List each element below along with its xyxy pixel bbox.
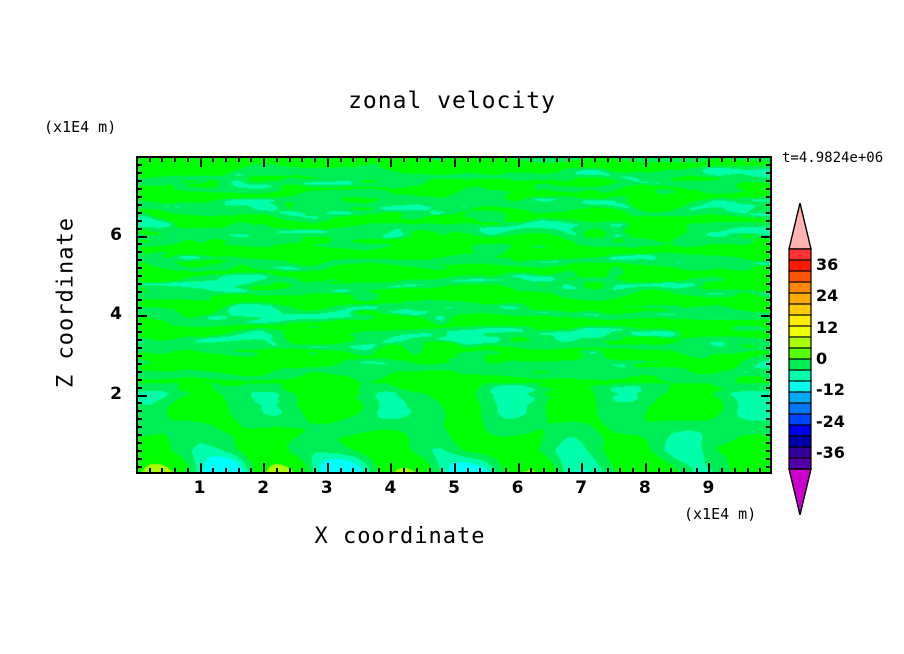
y-minor-tick xyxy=(137,434,142,436)
y-minor-tick-right xyxy=(766,426,771,428)
x-minor-tick-top xyxy=(301,157,303,162)
x-major-tick-top xyxy=(200,157,202,167)
y-minor-tick-right xyxy=(766,196,771,198)
y-minor-tick xyxy=(137,188,142,190)
time-annotation: t=4.9824e+06 xyxy=(782,150,883,166)
y-minor-tick-right xyxy=(766,339,771,341)
y-minor-tick xyxy=(137,307,142,309)
y-minor-tick xyxy=(137,291,142,293)
x-major-tick-top xyxy=(645,157,647,167)
x-major-tick xyxy=(454,463,456,473)
x-minor-tick-top xyxy=(441,157,443,162)
y-major-tick xyxy=(137,315,147,317)
x-minor-tick xyxy=(289,468,291,473)
x-minor-tick-top xyxy=(734,157,736,162)
x-minor-tick xyxy=(607,468,609,473)
y-minor-tick xyxy=(137,212,142,214)
y-major-tick xyxy=(137,236,147,238)
x-minor-tick-top xyxy=(314,157,316,162)
x-minor-tick xyxy=(225,468,227,473)
x-minor-tick-top xyxy=(250,157,252,162)
x-minor-tick xyxy=(568,468,570,473)
contour-plot-area[interactable] xyxy=(136,156,772,474)
x-minor-tick xyxy=(378,468,380,473)
x-minor-tick xyxy=(759,468,761,473)
x-tick-label: 7 xyxy=(566,478,596,498)
x-minor-tick-top xyxy=(492,157,494,162)
y-minor-tick xyxy=(137,426,142,428)
x-minor-tick xyxy=(747,468,749,473)
x-minor-tick-top xyxy=(658,157,660,162)
y-minor-tick-right xyxy=(766,323,771,325)
y-minor-tick xyxy=(137,466,142,468)
x-major-tick-top xyxy=(263,157,265,167)
x-minor-tick-top xyxy=(187,157,189,162)
y-minor-tick xyxy=(137,228,142,230)
colorbar-tick-label: -24 xyxy=(816,412,845,431)
y-minor-tick-right xyxy=(766,355,771,357)
x-major-tick xyxy=(708,463,710,473)
y-minor-tick-right xyxy=(766,418,771,420)
x-minor-tick xyxy=(161,468,163,473)
y-minor-tick-right xyxy=(766,283,771,285)
y-minor-tick-right xyxy=(766,164,771,166)
y-minor-tick xyxy=(137,442,142,444)
y-minor-tick xyxy=(137,339,142,341)
x-minor-tick xyxy=(352,468,354,473)
x-minor-tick xyxy=(429,468,431,473)
y-minor-tick-right xyxy=(766,442,771,444)
y-minor-tick xyxy=(137,347,142,349)
y-minor-tick xyxy=(137,180,142,182)
x-minor-tick-top xyxy=(696,157,698,162)
x-minor-tick xyxy=(149,468,151,473)
colorbar-tick-label: 36 xyxy=(816,255,838,274)
y-minor-tick-right xyxy=(766,458,771,460)
x-major-tick-top xyxy=(390,157,392,167)
x-axis-units: (x1E4 m) xyxy=(684,505,756,523)
y-minor-tick xyxy=(137,458,142,460)
x-tick-label: 8 xyxy=(630,478,660,498)
y-minor-tick-right xyxy=(766,251,771,253)
x-minor-tick-top xyxy=(632,157,634,162)
y-major-tick-right xyxy=(761,236,771,238)
y-minor-tick xyxy=(137,172,142,174)
y-minor-tick-right xyxy=(766,402,771,404)
x-tick-label: 4 xyxy=(375,478,405,498)
y-minor-tick xyxy=(137,387,142,389)
y-minor-tick-right xyxy=(766,331,771,333)
x-minor-tick-top xyxy=(149,157,151,162)
x-minor-tick xyxy=(276,468,278,473)
x-minor-tick xyxy=(250,468,252,473)
y-minor-tick xyxy=(137,275,142,277)
x-minor-tick-top xyxy=(174,157,176,162)
x-minor-tick xyxy=(556,468,558,473)
x-minor-tick-top xyxy=(721,157,723,162)
y-minor-tick xyxy=(137,410,142,412)
x-minor-tick-top xyxy=(479,157,481,162)
x-minor-tick xyxy=(212,468,214,473)
x-minor-tick xyxy=(314,468,316,473)
x-minor-tick xyxy=(479,468,481,473)
x-tick-label: 1 xyxy=(185,478,215,498)
x-minor-tick xyxy=(187,468,189,473)
x-minor-tick xyxy=(670,468,672,473)
x-minor-tick-top xyxy=(607,157,609,162)
colorbar-tick-label: 24 xyxy=(816,286,838,305)
x-minor-tick xyxy=(632,468,634,473)
colorbar-gradient xyxy=(783,203,817,515)
y-minor-tick-right xyxy=(766,228,771,230)
y-tick-label: 2 xyxy=(100,384,122,404)
y-major-tick-right xyxy=(761,315,771,317)
x-minor-tick-top xyxy=(556,157,558,162)
y-minor-tick xyxy=(137,251,142,253)
x-minor-tick-top xyxy=(429,157,431,162)
colorbar-tick-label: 12 xyxy=(816,318,838,337)
y-minor-tick xyxy=(137,363,142,365)
x-minor-tick xyxy=(505,468,507,473)
y-minor-tick-right xyxy=(766,188,771,190)
x-minor-tick-top xyxy=(212,157,214,162)
x-major-tick xyxy=(390,463,392,473)
x-minor-tick-top xyxy=(683,157,685,162)
page-title: zonal velocity xyxy=(0,88,904,114)
y-minor-tick xyxy=(137,283,142,285)
x-minor-tick xyxy=(721,468,723,473)
x-major-tick-top xyxy=(327,157,329,167)
x-minor-tick xyxy=(416,468,418,473)
y-minor-tick xyxy=(137,267,142,269)
y-minor-tick-right xyxy=(766,291,771,293)
y-minor-tick-right xyxy=(766,379,771,381)
y-minor-tick-right xyxy=(766,212,771,214)
y-minor-tick xyxy=(137,220,142,222)
x-minor-tick-top xyxy=(543,157,545,162)
y-minor-tick-right xyxy=(766,450,771,452)
x-minor-tick xyxy=(594,468,596,473)
x-major-tick xyxy=(327,463,329,473)
x-minor-tick-top xyxy=(352,157,354,162)
x-minor-tick xyxy=(683,468,685,473)
y-minor-tick xyxy=(137,323,142,325)
x-major-tick-top xyxy=(454,157,456,167)
x-minor-tick-top xyxy=(619,157,621,162)
y-minor-tick xyxy=(137,299,142,301)
x-minor-tick-top xyxy=(505,157,507,162)
y-minor-tick xyxy=(137,371,142,373)
y-minor-tick xyxy=(137,243,142,245)
x-major-tick-top xyxy=(581,157,583,167)
x-minor-tick xyxy=(530,468,532,473)
x-major-tick-top xyxy=(518,157,520,167)
y-minor-tick-right xyxy=(766,466,771,468)
x-tick-label: 2 xyxy=(248,478,278,498)
x-minor-tick-top xyxy=(403,157,405,162)
y-minor-tick-right xyxy=(766,363,771,365)
y-minor-tick-right xyxy=(766,180,771,182)
y-tick-label: 6 xyxy=(100,225,122,245)
x-minor-tick xyxy=(696,468,698,473)
x-major-tick xyxy=(581,463,583,473)
colorbar[interactable] xyxy=(783,203,817,515)
x-minor-tick xyxy=(301,468,303,473)
y-minor-tick-right xyxy=(766,371,771,373)
x-minor-tick xyxy=(543,468,545,473)
x-minor-tick-top xyxy=(225,157,227,162)
y-tick-label: 4 xyxy=(100,304,122,324)
y-minor-tick xyxy=(137,402,142,404)
y-minor-tick xyxy=(137,259,142,261)
x-minor-tick-top xyxy=(340,157,342,162)
x-minor-tick xyxy=(238,468,240,473)
x-minor-tick-top xyxy=(568,157,570,162)
x-minor-tick xyxy=(734,468,736,473)
y-minor-tick xyxy=(137,450,142,452)
x-major-tick xyxy=(200,463,202,473)
x-minor-tick-top xyxy=(670,157,672,162)
x-minor-tick xyxy=(340,468,342,473)
x-minor-tick xyxy=(467,468,469,473)
x-minor-tick-top xyxy=(276,157,278,162)
y-minor-tick xyxy=(137,196,142,198)
colorbar-tick-label: 0 xyxy=(816,349,827,368)
y-minor-tick xyxy=(137,355,142,357)
y-minor-tick-right xyxy=(766,267,771,269)
x-minor-tick-top xyxy=(759,157,761,162)
x-minor-tick-top xyxy=(365,157,367,162)
y-major-tick-right xyxy=(761,395,771,397)
y-minor-tick xyxy=(137,331,142,333)
x-major-tick xyxy=(263,463,265,473)
x-minor-tick xyxy=(174,468,176,473)
x-tick-label: 5 xyxy=(439,478,469,498)
y-minor-tick-right xyxy=(766,220,771,222)
y-minor-tick-right xyxy=(766,434,771,436)
colorbar-tick-label: -12 xyxy=(816,380,845,399)
y-minor-tick-right xyxy=(766,275,771,277)
y-minor-tick-right xyxy=(766,243,771,245)
x-minor-tick xyxy=(619,468,621,473)
y-minor-tick xyxy=(137,204,142,206)
y-axis-title: Z coordinate xyxy=(54,213,79,393)
y-minor-tick-right xyxy=(766,259,771,261)
x-tick-label: 6 xyxy=(503,478,533,498)
x-tick-label: 9 xyxy=(693,478,723,498)
x-minor-tick xyxy=(492,468,494,473)
x-minor-tick-top xyxy=(238,157,240,162)
y-major-tick xyxy=(137,395,147,397)
y-minor-tick-right xyxy=(766,387,771,389)
x-minor-tick-top xyxy=(594,157,596,162)
x-minor-tick xyxy=(441,468,443,473)
x-minor-tick xyxy=(365,468,367,473)
x-minor-tick-top xyxy=(416,157,418,162)
y-minor-tick-right xyxy=(766,410,771,412)
y-minor-tick xyxy=(137,379,142,381)
y-minor-tick-right xyxy=(766,204,771,206)
y-minor-tick xyxy=(137,164,142,166)
y-minor-tick-right xyxy=(766,172,771,174)
x-tick-label: 3 xyxy=(312,478,342,498)
x-minor-tick xyxy=(658,468,660,473)
x-minor-tick xyxy=(403,468,405,473)
colorbar-tick-label: -36 xyxy=(816,443,845,462)
x-minor-tick-top xyxy=(530,157,532,162)
y-axis-units: (x1E4 m) xyxy=(44,118,116,136)
x-major-tick-top xyxy=(708,157,710,167)
x-minor-tick-top xyxy=(161,157,163,162)
x-minor-tick-top xyxy=(747,157,749,162)
y-minor-tick-right xyxy=(766,299,771,301)
x-minor-tick-top xyxy=(378,157,380,162)
x-major-tick xyxy=(645,463,647,473)
contour-field xyxy=(138,158,770,472)
x-major-tick xyxy=(518,463,520,473)
x-minor-tick-top xyxy=(467,157,469,162)
y-minor-tick-right xyxy=(766,347,771,349)
y-minor-tick-right xyxy=(766,307,771,309)
x-axis-title: X coordinate xyxy=(0,524,800,549)
x-minor-tick-top xyxy=(289,157,291,162)
y-minor-tick xyxy=(137,418,142,420)
